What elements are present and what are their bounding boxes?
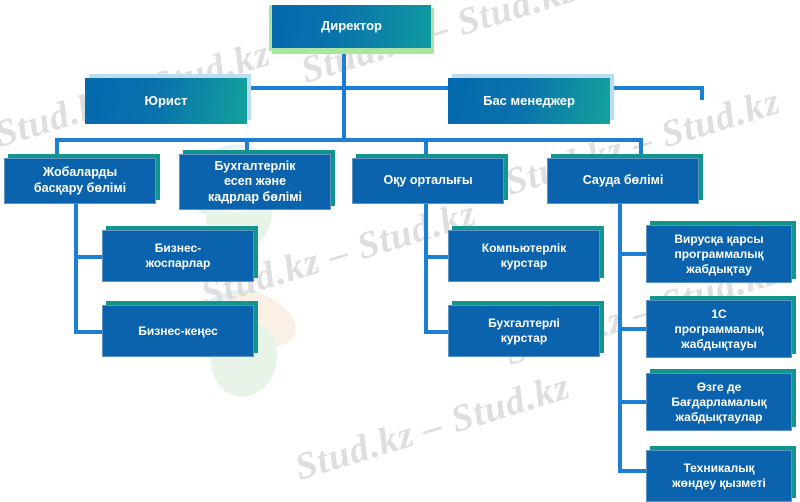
node-general-manager[interactable]: Бас менеджер xyxy=(448,78,610,124)
node-director[interactable]: Директор xyxy=(269,5,431,51)
node-software-1c[interactable]: 1С программалық жабдықтауы xyxy=(646,300,792,358)
text-line: программалық xyxy=(674,322,763,336)
connector-projects-to-business-plans xyxy=(74,255,102,259)
node-other-software[interactable]: Өзге де Бағдарламалық жабдықтаулар xyxy=(646,373,792,431)
connector-sales-to-1c xyxy=(618,327,646,331)
text-line: басқару бөлімі xyxy=(34,181,126,195)
node-accounting-courses-label: Бухгалтерлі курстар xyxy=(488,316,560,346)
connector-sales-spine xyxy=(618,199,622,471)
node-antivirus-software-label: Вирусқа қарсы программалық жабдықтау xyxy=(674,232,763,277)
text-line: Жобаларды xyxy=(43,165,117,179)
node-technical-service-label: Техникалық жөндеу қызметі xyxy=(672,461,766,491)
connector-department-bus xyxy=(55,138,643,142)
node-business-plans-label: Бизнес- жоспарлар xyxy=(146,241,211,271)
text-line: Бизнес- xyxy=(155,241,201,255)
text-line: Техникалық xyxy=(683,461,754,475)
node-computer-courses[interactable]: Компьютерлік курстар xyxy=(448,230,600,282)
text-line: жабдықтаулар xyxy=(675,410,762,424)
text-line: жабдықтауы xyxy=(681,337,757,351)
text-line: Вирусқа қарсы xyxy=(674,232,763,246)
connector-director-down xyxy=(342,52,346,86)
connector-projects-spine xyxy=(74,199,78,334)
node-dept-projects-label: Жобаларды басқару бөлімі xyxy=(34,165,126,196)
text-line: жоспарлар xyxy=(146,256,211,270)
text-line: курстар xyxy=(501,256,547,270)
connector-training-spine xyxy=(424,199,428,334)
text-line: Өзге де xyxy=(697,380,742,394)
text-line: кадрлар бөлімі xyxy=(208,190,302,204)
connector-manager-up xyxy=(700,86,704,100)
connector-projects-to-business-advice xyxy=(74,330,102,334)
connector-sales-to-antivirus xyxy=(618,252,646,256)
text-line: жабдықтау xyxy=(686,262,752,276)
node-antivirus-software[interactable]: Вирусқа қарсы программалық жабдықтау xyxy=(646,225,792,283)
connector-sales-to-other-software xyxy=(618,400,646,404)
node-dept-accounting-hr-label: Бухгалтерлік есеп және кадрлар бөлімі xyxy=(208,159,302,206)
text-line: курстар xyxy=(501,331,547,345)
node-dept-sales[interactable]: Сауда бөлімі xyxy=(547,158,699,204)
node-business-plans[interactable]: Бизнес- жоспарлар xyxy=(102,230,254,282)
connector-spine-departments xyxy=(342,86,346,142)
node-business-advice[interactable]: Бизнес-кеңес xyxy=(102,305,254,357)
node-other-software-label: Өзге де Бағдарламалық жабдықтаулар xyxy=(671,380,766,425)
node-technical-service[interactable]: Техникалық жөндеу қызметі xyxy=(646,450,792,502)
node-dept-accounting-hr[interactable]: Бухгалтерлік есеп және кадрлар бөлімі xyxy=(179,154,331,210)
node-software-1c-label: 1С программалық жабдықтауы xyxy=(674,307,763,352)
text-line: Бухгалтерлік xyxy=(214,159,295,173)
node-dept-training[interactable]: Оқу орталығы xyxy=(352,158,504,204)
text-line: программалық xyxy=(674,247,763,261)
connector-training-to-accounting-courses xyxy=(424,330,448,334)
text-line: Компьютерлік xyxy=(482,241,567,255)
node-accounting-courses[interactable]: Бухгалтерлі курстар xyxy=(448,305,600,357)
text-line: жөндеу қызметі xyxy=(672,476,766,490)
text-line: 1С xyxy=(711,307,726,321)
text-line: Бухгалтерлі xyxy=(488,316,560,330)
connector-training-to-computer-courses xyxy=(424,255,448,259)
text-line: есеп және xyxy=(224,174,286,188)
org-chart: Stud.kz – Stud.kz Stud.kz – Stud.kz Stud… xyxy=(0,0,800,501)
node-lawyer[interactable]: Юрист xyxy=(85,78,247,124)
watermark-text: Stud.kz – Stud.kz xyxy=(290,364,576,489)
connector-sales-to-technical-service xyxy=(618,469,646,473)
node-computer-courses-label: Компьютерлік курстар xyxy=(482,241,567,271)
node-dept-projects[interactable]: Жобаларды басқару бөлімі xyxy=(4,158,156,204)
text-line: Бағдарламалық xyxy=(671,395,766,409)
